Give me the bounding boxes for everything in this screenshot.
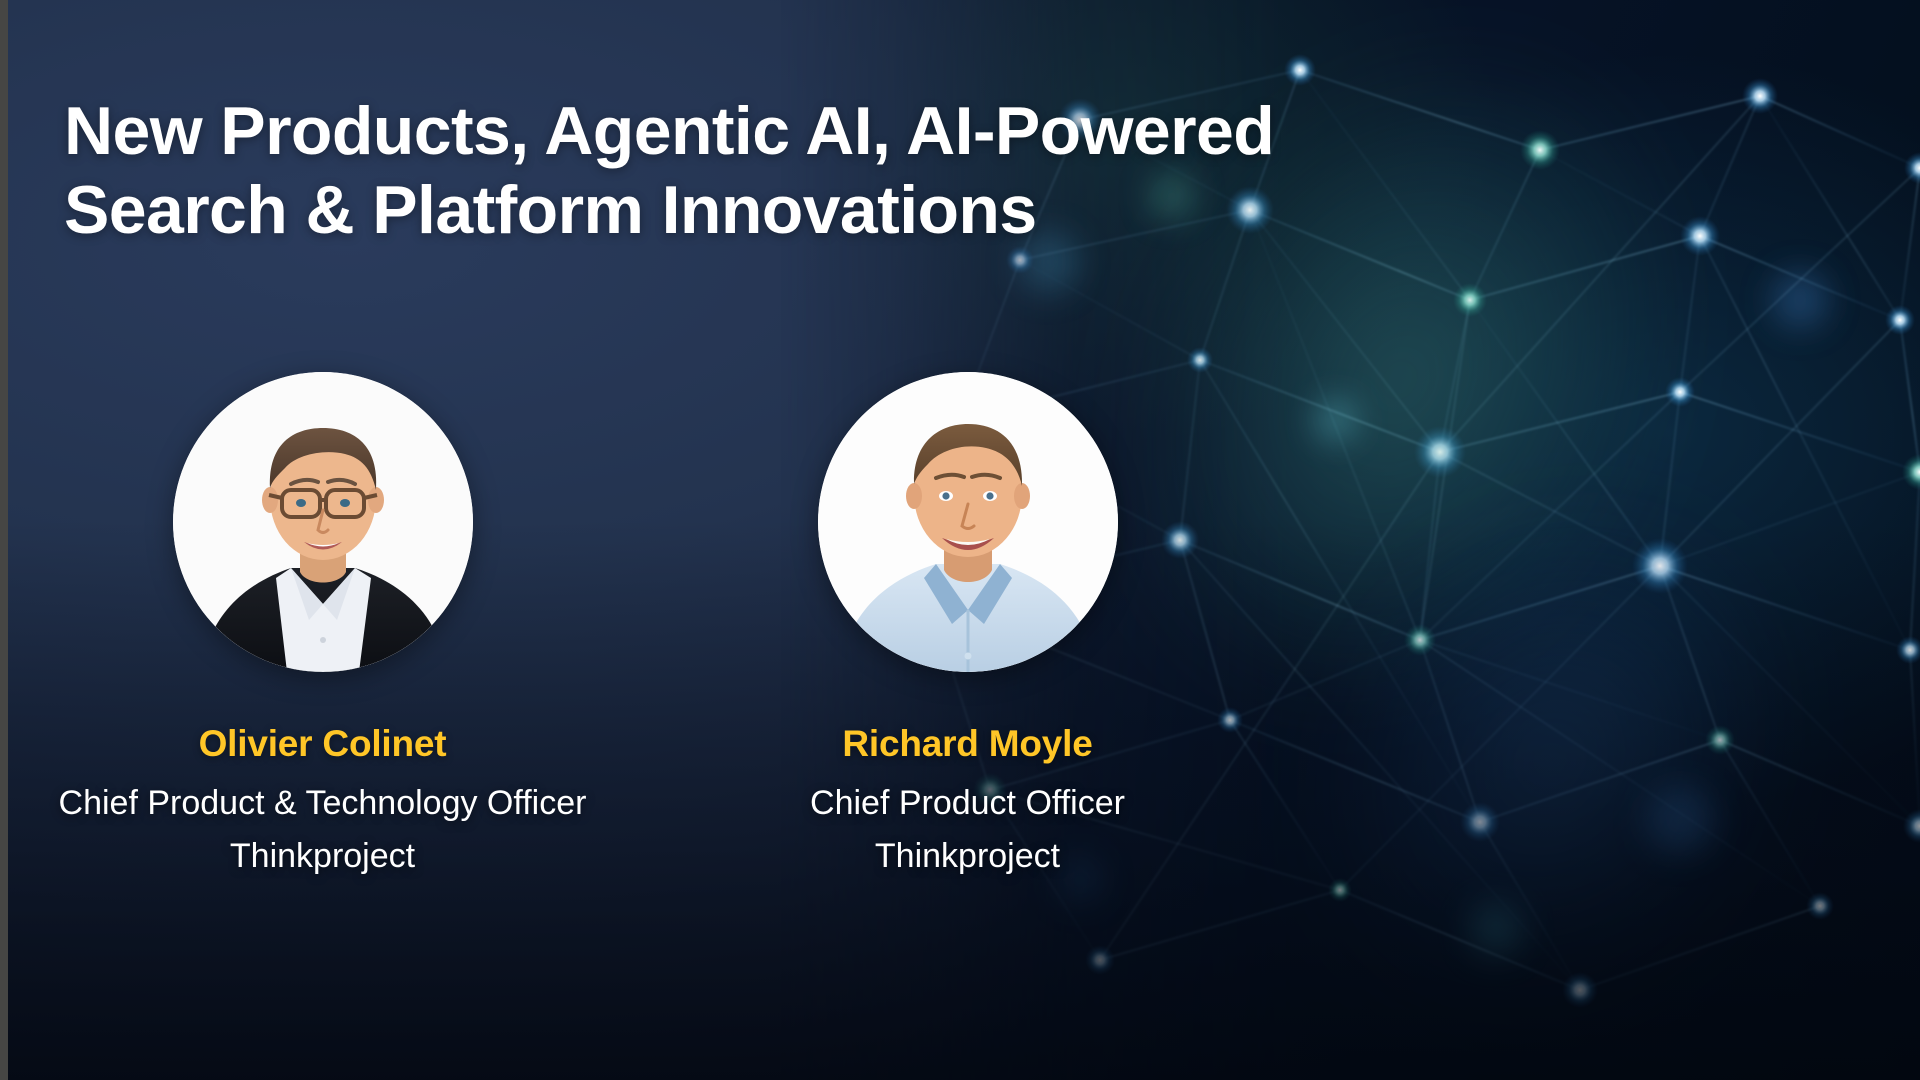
- avatar: [818, 372, 1118, 672]
- slide-title-line-1: New Products, Agentic AI, AI-Powered: [64, 92, 1394, 171]
- speaker-role: Chief Product Officer Thinkproject: [753, 777, 1183, 884]
- speaker-list: Olivier Colinet Chief Product & Technolo…: [0, 372, 1290, 884]
- slide-title-line-2: Search & Platform Innovations: [64, 171, 1394, 250]
- portrait-richard-moyle-icon: [818, 372, 1118, 672]
- left-edge-gutter: [0, 0, 8, 1080]
- presentation-slide: New Products, Agentic AI, AI-Powered Sea…: [0, 0, 1920, 1080]
- portrait-olivier-colinet-icon: [173, 372, 473, 672]
- speaker-name: Richard Moyle: [842, 724, 1092, 765]
- slide-title: New Products, Agentic AI, AI-Powered Sea…: [64, 92, 1394, 250]
- speaker-card-olivier-colinet: Olivier Colinet Chief Product & Technolo…: [0, 372, 645, 884]
- speaker-name: Olivier Colinet: [199, 724, 447, 765]
- speaker-card-richard-moyle: Richard Moyle Chief Product Officer Thin…: [645, 372, 1290, 884]
- avatar: [173, 372, 473, 672]
- speaker-role: Chief Product & Technology Officer Think…: [43, 777, 603, 884]
